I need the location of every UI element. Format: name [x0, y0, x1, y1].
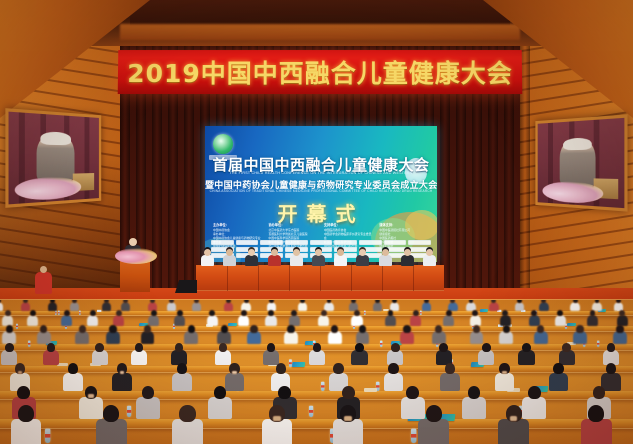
audience-member-body — [581, 419, 612, 444]
audience-member-head — [30, 310, 36, 316]
water-bottle — [411, 429, 416, 443]
audience-member-body — [224, 302, 233, 311]
audience-member-head — [194, 300, 199, 303]
audience-member-body — [534, 331, 548, 344]
table-panel-seam — [413, 265, 414, 291]
sponsor-logo — [285, 240, 308, 245]
organizer-name: 中国药学会药物临床评价研究专业委员会 — [324, 232, 374, 240]
podium-speaker-head — [129, 238, 137, 246]
sponsor-logo — [236, 240, 259, 245]
audience-member-head — [64, 310, 70, 316]
audience-member-head — [482, 343, 491, 352]
panelist-body — [423, 255, 436, 266]
audience-member-body — [515, 302, 524, 311]
organizer-column-heading: 支持单位： — [324, 222, 374, 227]
sponsor-logo — [211, 240, 234, 245]
audience-member-head — [616, 300, 621, 303]
audience-member-head — [103, 405, 119, 422]
organizer-column-heading: 媒体支持： — [379, 222, 429, 227]
water-bottle — [79, 310, 81, 314]
water-bottle — [597, 340, 599, 346]
audience-member-head — [40, 325, 47, 333]
audience-member-head — [5, 310, 11, 316]
panelist-body — [312, 255, 325, 266]
audience-member-head — [123, 300, 128, 303]
audience-member-head — [446, 310, 452, 316]
ceiling-recess — [130, 0, 510, 26]
audience-member-neck — [120, 371, 125, 374]
organizer-column-heading: 协办单位： — [268, 222, 318, 227]
association-logo-icon — [213, 134, 233, 154]
water-bottle — [364, 310, 366, 314]
audience-member-head — [90, 310, 96, 316]
aisle-attendant-head — [40, 266, 47, 273]
audience-member-body — [384, 373, 404, 391]
audience-member-head — [424, 300, 429, 303]
water-bottle — [309, 406, 313, 417]
audience-member-head — [18, 405, 34, 422]
audience-member-body — [172, 419, 203, 444]
audience-member-neck — [510, 416, 517, 421]
audience-member-head — [135, 343, 144, 352]
audience-member-neck — [344, 416, 351, 421]
audience-member-head — [276, 363, 286, 374]
screen-speaker-hair — [563, 137, 592, 150]
panelist-body — [245, 255, 258, 266]
desk-name-plate — [97, 310, 101, 312]
audience-member-body — [400, 331, 414, 344]
sponsor-logo — [359, 240, 382, 245]
audience-member-body — [440, 373, 460, 391]
audience-member-body — [333, 419, 364, 444]
audience-member-body — [385, 315, 396, 326]
panelist — [223, 249, 236, 265]
sponsor-row — [211, 240, 431, 245]
audience-member-body — [11, 419, 42, 444]
audience-member-head — [244, 300, 249, 303]
audience-member-head — [388, 363, 398, 374]
printed-paper — [57, 363, 67, 367]
audience-member-head — [528, 386, 541, 399]
audience-member-body — [539, 302, 548, 311]
water-bottle — [55, 310, 57, 314]
audience-member-body — [79, 397, 103, 419]
aisle-attendant-body — [35, 272, 52, 294]
audience-member-body — [1, 350, 17, 365]
panelist-head — [293, 249, 300, 256]
audience-member-head — [606, 363, 616, 374]
audience-member-body — [131, 350, 147, 365]
sponsor-logo — [260, 240, 283, 245]
audience-member-body — [443, 315, 454, 326]
audience-member-body — [549, 373, 569, 391]
audience-member-body — [410, 315, 421, 326]
audience-member-body — [0, 302, 3, 311]
panelist — [379, 249, 392, 265]
audience-member-body — [462, 397, 486, 419]
audience-member-body — [148, 315, 159, 326]
ceiling-cove-light — [120, 24, 520, 40]
panelist — [245, 249, 258, 265]
audience-member-head — [79, 325, 86, 333]
audience-member-head — [573, 300, 578, 303]
audience-member-head — [109, 325, 116, 333]
audience-member-head — [47, 343, 56, 352]
audience-member-head — [72, 300, 77, 303]
panelist — [268, 249, 281, 265]
audience-member-head — [576, 325, 583, 333]
audience-member-body — [172, 373, 192, 391]
audience-member-body — [587, 315, 598, 326]
audience-member-body — [498, 419, 529, 444]
audience-member-body — [495, 373, 515, 391]
audience-member-head — [435, 325, 442, 333]
printed-paper — [364, 388, 377, 393]
audience-member-head — [250, 325, 257, 333]
water-bottle — [127, 406, 131, 417]
audience-member-body — [92, 350, 108, 365]
audience-member-body — [48, 302, 57, 311]
audience-member-body — [613, 331, 627, 344]
audience-member-body — [309, 350, 325, 365]
audience-member-head — [445, 363, 455, 374]
audience-member-head — [607, 343, 616, 352]
audience-member-head — [221, 325, 228, 333]
audience-member-head — [151, 310, 157, 316]
panelist — [356, 249, 369, 265]
audience-member-head — [188, 325, 195, 333]
table-panel-seam — [258, 265, 259, 291]
audience-member-body — [225, 373, 245, 391]
audience-member-body — [318, 315, 329, 326]
audience-member-head — [537, 325, 544, 333]
panelist — [401, 249, 414, 265]
audience-member-head — [517, 300, 522, 303]
panelist-body — [379, 255, 392, 266]
audience-member-body — [63, 373, 83, 391]
water-bottle — [45, 429, 50, 443]
audience-member-body — [208, 397, 232, 419]
audience-member-body — [106, 331, 120, 344]
audience-member-head — [522, 343, 531, 352]
audience-member-body — [351, 350, 367, 365]
audience-member-body — [121, 302, 130, 311]
audience-member-body — [298, 302, 307, 311]
audience-member-head — [219, 343, 228, 352]
sponsor-logo — [384, 240, 407, 245]
audience-member-body — [215, 350, 231, 365]
panelist-body — [201, 255, 214, 266]
audience-member-body — [401, 397, 425, 419]
audience-member-body — [112, 373, 132, 391]
audience-member-body — [324, 302, 333, 311]
audience-member-head — [413, 310, 419, 316]
audience-member-head — [17, 386, 30, 399]
audience-member-head — [321, 310, 327, 316]
audience-member-body — [247, 331, 261, 344]
audience-member-body — [470, 331, 484, 344]
audience-member-body — [555, 315, 566, 326]
audience-seating — [0, 300, 633, 444]
panelist-body — [401, 255, 414, 266]
audience-member-head — [175, 343, 184, 352]
audience-member-body — [422, 302, 431, 311]
audience-member-head — [150, 300, 155, 303]
audience-member-head — [104, 300, 109, 303]
audience-member-head — [278, 386, 291, 399]
table-panel-seam — [382, 265, 383, 291]
audience-member-head — [214, 386, 227, 399]
sponsor-logo — [310, 240, 333, 245]
audience-member-body — [328, 331, 342, 344]
panelist-body — [334, 255, 347, 266]
main-led-screen: 首届中国中西融合儿童健康大会 THE FIRST CHILD HEALTH CO… — [205, 126, 437, 262]
audience-member-head — [241, 310, 247, 316]
conference-folder — [292, 362, 306, 367]
audience-member-head — [355, 343, 364, 352]
audience-member-body — [265, 315, 276, 326]
audience-member-body — [61, 315, 72, 326]
audience-member-head — [287, 325, 294, 333]
audience-member-body — [167, 302, 176, 311]
water-bottle — [380, 340, 382, 346]
audience-member-head — [95, 343, 104, 352]
audience-member-body — [141, 331, 155, 344]
audience-member-head — [177, 363, 187, 374]
audience-member-head — [616, 325, 623, 333]
audience-member-neck — [273, 416, 280, 421]
panelist-head — [204, 249, 211, 256]
panelist — [312, 249, 325, 265]
table-panel-seam — [351, 265, 352, 291]
audience-member-head — [473, 325, 480, 333]
panelist-head — [382, 249, 389, 256]
panelist — [423, 249, 436, 265]
audience-member-body — [96, 419, 127, 444]
audience-member-body — [136, 397, 160, 419]
table-panel-seam — [289, 265, 290, 291]
sponsor-logo — [334, 240, 357, 245]
audience-member-head — [267, 343, 276, 352]
audience-member-head — [331, 325, 338, 333]
panelist-body — [290, 255, 303, 266]
audience-member-head — [226, 300, 231, 303]
audience-member-head — [169, 300, 174, 303]
audience-member-neck — [232, 371, 237, 374]
audience-member-body — [518, 350, 534, 365]
audience-member-body — [87, 315, 98, 326]
audience-member-head — [333, 363, 343, 374]
audience-member-head — [300, 300, 305, 303]
audience-member-head — [391, 343, 400, 352]
panelist — [334, 249, 347, 265]
audience-member-body — [573, 331, 587, 344]
panelist — [290, 249, 303, 265]
audience-member-head — [116, 310, 122, 316]
podium-floral-arrangement — [115, 248, 157, 264]
audience-member-neck — [88, 394, 94, 398]
audience-member-head — [426, 405, 442, 422]
audience-member-head — [177, 310, 183, 316]
audience-member-head — [23, 300, 28, 303]
audience-member-body — [75, 331, 89, 344]
audience-member-head — [68, 363, 78, 374]
audience-member-head — [562, 343, 571, 352]
audience-member-body — [192, 302, 201, 311]
audience-member-body — [70, 302, 79, 311]
audience-member-head — [588, 405, 604, 422]
table-panel-seam — [320, 265, 321, 291]
audience-member-body — [499, 331, 513, 344]
audience-member-head — [439, 343, 448, 352]
audience-member-body — [184, 331, 198, 344]
water-bottle — [420, 310, 422, 314]
audience-member-head — [406, 386, 419, 399]
audience-member-body — [418, 419, 449, 444]
audience-member-body — [284, 331, 298, 344]
audience-member-body — [478, 350, 494, 365]
audience-desk — [0, 419, 633, 429]
audience-member-body — [570, 302, 579, 311]
audience-member-body — [102, 302, 111, 311]
audience-member-head — [593, 386, 606, 399]
audience-desk — [0, 366, 633, 374]
screen-title-english: THE FIRST CHILD HEALTH CONFERENCE ON THE… — [205, 171, 437, 175]
panelist-body — [356, 255, 369, 266]
audience-member-head — [179, 405, 195, 422]
audience-member-head — [142, 386, 155, 399]
audience-member-body — [238, 315, 249, 326]
head-table — [196, 265, 444, 291]
audience-member-head — [553, 363, 563, 374]
screen-subtitle-english: CHINA ASSOCIATION OF TRADITIONAL CHINESE… — [205, 189, 437, 193]
audience-member-body — [489, 302, 498, 311]
conference-folder — [480, 309, 488, 312]
audience-member-body — [522, 397, 546, 419]
audience-member-body — [27, 315, 38, 326]
audience-member-body — [373, 302, 382, 311]
audience-member-body — [207, 315, 218, 326]
audience-member-head — [144, 325, 151, 333]
left-projection-screen — [5, 108, 101, 208]
audience-member-body — [262, 419, 293, 444]
right-projection-screen — [535, 114, 627, 211]
audience-member-body — [174, 315, 185, 326]
sponsor-logo — [408, 240, 431, 245]
panelist-body — [268, 255, 281, 266]
audience-member-body — [43, 350, 59, 365]
top-red-banner: 2019中国中西融合儿童健康大会 — [118, 50, 523, 94]
audience-member-head — [468, 386, 481, 399]
panelist-head — [315, 249, 322, 256]
audience-member-body — [21, 302, 30, 311]
panelist-head — [404, 249, 411, 256]
audience-member-head — [359, 325, 366, 333]
audience-member-body — [263, 350, 279, 365]
panelist-head — [426, 249, 433, 256]
audience-member-head — [313, 343, 322, 352]
panelist-body — [223, 255, 236, 266]
audience-member-neck — [18, 371, 23, 374]
water-bottle — [58, 310, 60, 314]
panelist-head — [271, 249, 278, 256]
screen-speaker-hair — [40, 131, 71, 145]
water-bottle — [321, 382, 324, 391]
conference-photo-scene: 2019中国中西融合儿童健康大会 首届中国中西融合儿童健康大会 THE FIRS — [0, 0, 633, 444]
audience-member-head — [269, 300, 274, 303]
audience-member-head — [503, 325, 510, 333]
panelist — [201, 249, 214, 265]
organizer-column-heading: 主办单位： — [213, 222, 263, 227]
banner-title-text: 2019中国中西融合儿童健康大会 — [127, 54, 513, 90]
audience-member-head — [403, 325, 410, 333]
audience-member-head — [351, 300, 356, 303]
audience-member-head — [5, 343, 14, 352]
table-panel-seam — [227, 265, 228, 291]
audience-member-head — [342, 386, 355, 399]
audience-member-neck — [502, 371, 507, 374]
audience-member-head — [6, 325, 13, 333]
